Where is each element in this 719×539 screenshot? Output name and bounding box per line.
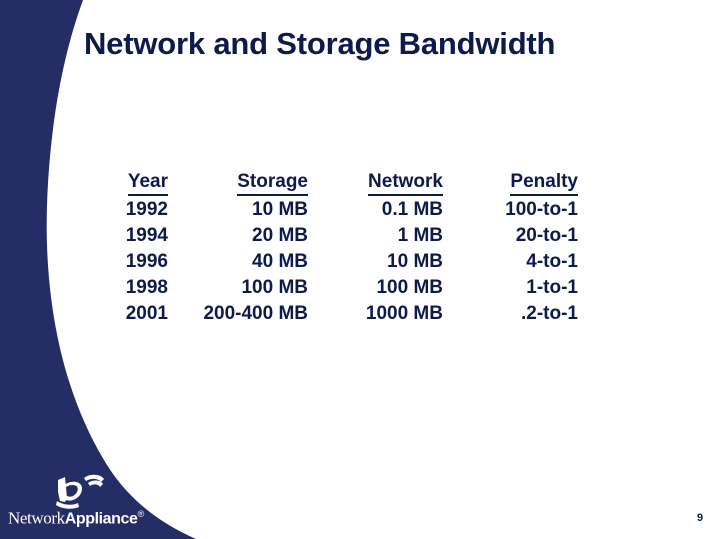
page-title: Network and Storage Bandwidth	[84, 25, 644, 63]
cell-network: 1 MB	[308, 223, 443, 249]
column-header-penalty-label: Penalty	[510, 171, 578, 196]
cell-storage: 10 MB	[168, 197, 308, 223]
cell-storage: 40 MB	[168, 249, 308, 275]
cell-year: 1992	[108, 197, 168, 223]
cell-penalty: 1-to-1	[443, 275, 578, 301]
table-row: 1996 40 MB 10 MB 4-to-1	[108, 249, 578, 275]
logo-word-appliance: Appliance	[65, 510, 138, 527]
table-row: 1998 100 MB 100 MB 1-to-1	[108, 275, 578, 301]
cell-year: 1996	[108, 249, 168, 275]
column-header-year-label: Year	[128, 171, 168, 196]
page-number: 9	[690, 512, 710, 524]
table-header-row: Year Storage Network Penalty	[108, 171, 578, 197]
cell-penalty: 4-to-1	[443, 249, 578, 275]
cell-penalty: 100-to-1	[443, 197, 578, 223]
column-header-storage-label: Storage	[237, 171, 308, 196]
bandwidth-table: Year Storage Network Penalty 1992 10 MB …	[108, 171, 578, 327]
cell-network: 1000 MB	[308, 301, 443, 327]
logo-wordmark: NetworkAppliance®	[8, 504, 154, 524]
cell-year: 2001	[108, 301, 168, 327]
cell-network: 100 MB	[308, 275, 443, 301]
cell-penalty: .2-to-1	[443, 301, 578, 327]
column-header-network-label: Network	[368, 171, 443, 196]
cell-year: 1994	[108, 223, 168, 249]
slide-canvas: Network and Storage Bandwidth Year Stora…	[0, 0, 719, 539]
cell-storage: 20 MB	[168, 223, 308, 249]
table-row: 1992 10 MB 0.1 MB 100-to-1	[108, 197, 578, 223]
cell-penalty: 20-to-1	[443, 223, 578, 249]
column-header-network: Network	[308, 171, 443, 197]
cell-storage: 100 MB	[168, 275, 308, 301]
brand-logo: NetworkAppliance®	[8, 468, 158, 530]
column-header-storage: Storage	[168, 171, 308, 197]
registered-trademark-icon: ®	[138, 509, 145, 519]
table-row: 1994 20 MB 1 MB 20-to-1	[108, 223, 578, 249]
logo-word-network: Network	[8, 508, 65, 527]
cell-network: 10 MB	[308, 249, 443, 275]
cell-year: 1998	[108, 275, 168, 301]
column-header-penalty: Penalty	[443, 171, 578, 197]
table-row: 2001 200-400 MB 1000 MB .2-to-1	[108, 301, 578, 327]
cell-network: 0.1 MB	[308, 197, 443, 223]
column-header-year: Year	[108, 171, 168, 197]
cell-storage: 200-400 MB	[168, 301, 308, 327]
